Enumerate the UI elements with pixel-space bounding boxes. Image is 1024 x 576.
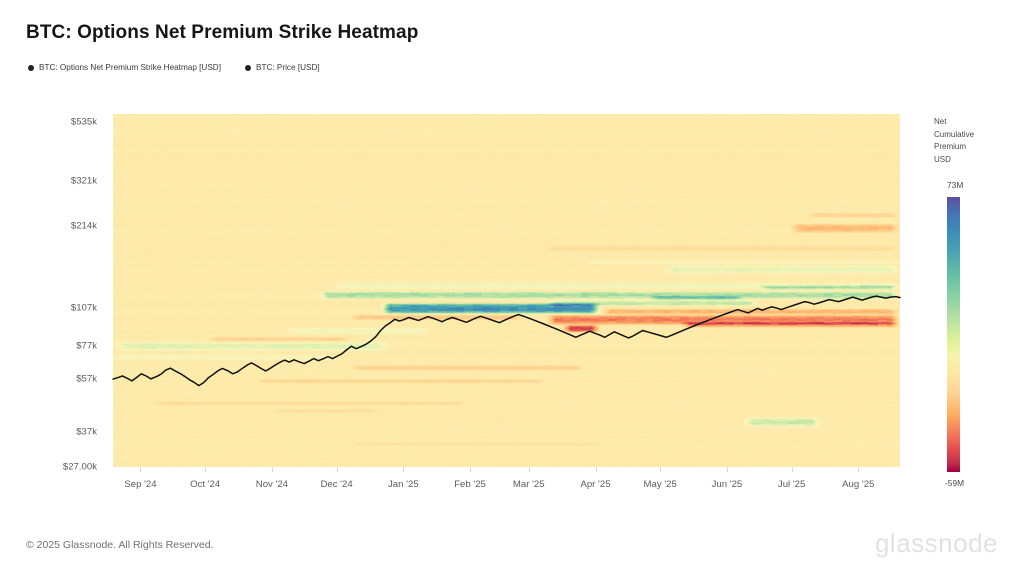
x-axis-tickmark (529, 467, 530, 472)
x-axis-tick-label: Dec '24 (320, 479, 352, 490)
legend-item-heatmap[interactable]: BTC: Options Net Premium Strike Heatmap … (28, 63, 221, 72)
price-line-layer (113, 114, 900, 467)
x-axis-tick-label: Nov '24 (256, 479, 288, 490)
y-axis-tick-label: $107k (71, 303, 97, 314)
x-axis-tickmark (660, 467, 661, 472)
plot-area[interactable] (113, 114, 900, 467)
x-axis-tick-label: Jul '25 (778, 479, 805, 490)
colorbar-title-line-2: Premium (934, 141, 1014, 154)
y-axis-tick-label: $37k (76, 427, 97, 438)
x-axis-tickmark (596, 467, 597, 472)
x-axis-tick-label: Oct '24 (190, 479, 220, 490)
x-axis-tickmark (272, 467, 273, 472)
page-title: BTC: Options Net Premium Strike Heatmap (26, 22, 418, 44)
x-axis-tick-label: Jun '25 (712, 479, 743, 490)
x-axis-tick-label: Mar '25 (513, 479, 545, 490)
y-axis-tick-label: $535k (71, 117, 97, 128)
x-axis-tickmark (205, 467, 206, 472)
x-axis: Sep '24Oct '24Nov '24Dec '24Jan '25Feb '… (113, 467, 900, 497)
y-axis-tick-label: $77k (76, 341, 97, 352)
price-line (113, 296, 900, 386)
x-axis-tick-label: Jan '25 (388, 479, 419, 490)
glassnode-watermark: glassnode (875, 528, 998, 559)
colorbar-title-line-3: USD (934, 154, 1014, 167)
x-axis-tick-label: Sep '24 (124, 479, 156, 490)
legend-item-price[interactable]: BTC: Price [USD] (245, 63, 320, 72)
dot-marker-icon (245, 65, 251, 71)
x-axis-tickmark (337, 467, 338, 472)
x-axis-tickmark (403, 467, 404, 472)
x-axis-tickmark (792, 467, 793, 472)
colorbar-title-line-0: Net (934, 116, 1014, 129)
legend-label-price: BTC: Price [USD] (256, 63, 320, 72)
copyright-text: © 2025 Glassnode. All Rights Reserved. (26, 539, 214, 551)
x-axis-tickmark (470, 467, 471, 472)
y-axis: $535k$321k$214k$107k$77k$57k$37k$27.00k (0, 114, 107, 467)
x-axis-tick-label: Aug '25 (842, 479, 874, 490)
colorbar-min-label: -59M (945, 478, 964, 488)
colorbar-title: Net Cumulative Premium USD (934, 116, 1014, 166)
y-axis-tick-label: $321k (71, 176, 97, 187)
x-axis-tick-label: Feb '25 (454, 479, 486, 490)
x-axis-tickmark (858, 467, 859, 472)
chart-legend: BTC: Options Net Premium Strike Heatmap … (28, 63, 320, 72)
x-axis-tickmark (140, 467, 141, 472)
x-axis-tick-label: May '25 (644, 479, 677, 490)
colorbar-gradient (947, 197, 960, 472)
y-axis-tick-label: $57k (76, 374, 97, 385)
legend-label-heatmap: BTC: Options Net Premium Strike Heatmap … (39, 63, 221, 72)
colorbar: Net Cumulative Premium USD 73M -59M (934, 116, 1014, 476)
dot-marker-icon (28, 65, 34, 71)
colorbar-title-line-1: Cumulative (934, 129, 1014, 142)
colorbar-max-label: 73M (947, 180, 963, 190)
x-axis-tickmark (727, 467, 728, 472)
y-axis-tick-label: $27.00k (63, 462, 97, 473)
y-axis-tick-label: $214k (71, 221, 97, 232)
x-axis-tick-label: Apr '25 (580, 479, 610, 490)
